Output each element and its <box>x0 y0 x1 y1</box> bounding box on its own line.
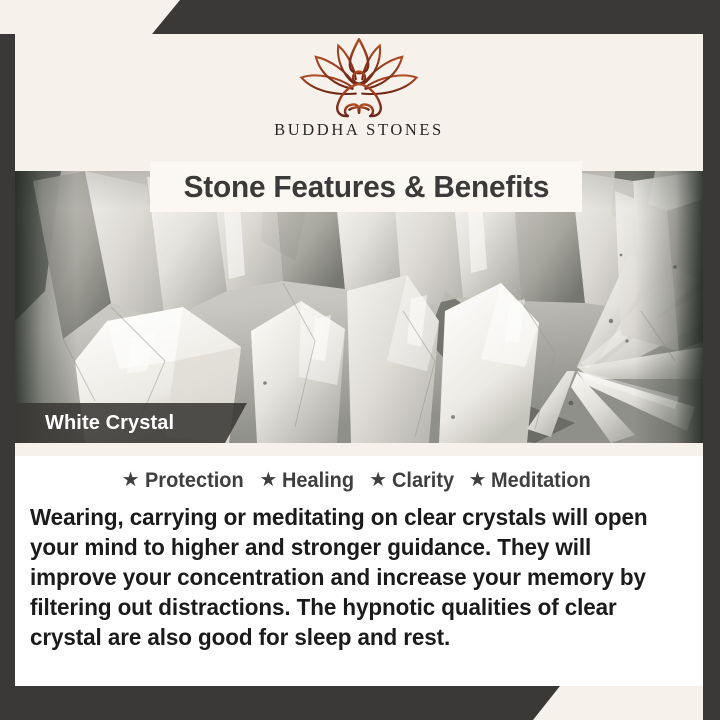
description-text: Wearing, carrying or meditating on clear… <box>30 502 657 652</box>
page-title: Stone Features & Benefits <box>183 169 549 205</box>
stone-name-banner: White Crystal <box>15 403 247 443</box>
lotus-meditation-icon <box>278 36 440 124</box>
benefit-label: Meditation <box>491 469 591 493</box>
stone-info-card: BUDDHA STONES Stone Features & Benefits <box>0 0 720 720</box>
benefits-row: ★ Protection ★ Healing ★ Clarity ★ Medit… <box>15 443 703 493</box>
frame-bottom-bar <box>0 686 720 720</box>
stone-name-label: White Crystal <box>15 412 174 435</box>
frame-right-bar <box>703 0 720 720</box>
benefit-label: Clarity <box>392 469 454 493</box>
page-title-band: Stone Features & Benefits <box>150 161 582 212</box>
benefit-item: ★ Meditation <box>468 469 596 493</box>
benefit-item: ★ Protection <box>122 469 249 493</box>
brand-name: BUDDHA STONES <box>274 120 444 140</box>
content-panel: ★ Protection ★ Healing ★ Clarity ★ Medit… <box>15 443 703 686</box>
page-body: BUDDHA STONES Stone Features & Benefits <box>15 34 703 686</box>
benefit-label: Protection <box>145 469 244 493</box>
benefit-label: Healing <box>282 469 354 493</box>
frame-top-bar <box>0 0 720 34</box>
benefit-item: ★ Clarity <box>369 469 457 493</box>
frame-left-bar <box>0 34 15 686</box>
brand-header: BUDDHA STONES <box>15 34 703 171</box>
star-icon: ★ <box>468 470 486 490</box>
benefit-item: ★ Healing <box>259 469 358 493</box>
star-icon: ★ <box>259 470 277 490</box>
star-icon: ★ <box>369 470 387 490</box>
star-icon: ★ <box>122 470 140 490</box>
